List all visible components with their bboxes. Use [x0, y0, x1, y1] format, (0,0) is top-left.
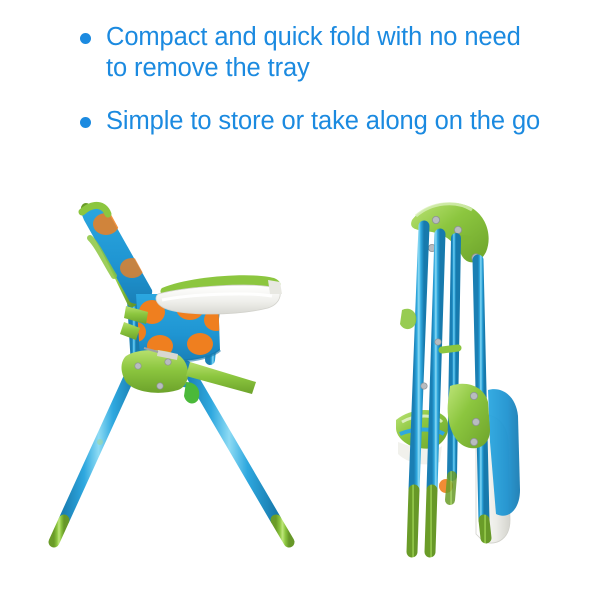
rivet [432, 216, 439, 223]
backrest-fabric [80, 203, 152, 303]
rear-leg [54, 362, 136, 542]
feature-item-text: Compact and quick fold with no need to r… [106, 22, 548, 84]
high-chair-folded-view-figure [380, 190, 570, 590]
high-chair-folded-view-illustration [380, 190, 570, 590]
high-chair-side-view-figure [40, 190, 330, 590]
rivet [470, 438, 477, 445]
rivet [470, 392, 477, 399]
rivet [435, 339, 441, 345]
rivet [135, 363, 141, 369]
feature-item-text: Simple to store or take along on the go [106, 106, 548, 137]
rivet [165, 359, 171, 365]
rivet [472, 418, 479, 425]
fold-hinge-hub [122, 350, 189, 393]
side-release-tab [400, 309, 416, 329]
product-image-row [0, 190, 600, 600]
bullet-dot-icon [80, 33, 91, 44]
front-leg [186, 366, 289, 542]
product-feature-panel: Compact and quick fold with no need to r… [0, 0, 600, 600]
rivet [421, 383, 427, 389]
bullet-dot-icon [80, 117, 91, 128]
tray [156, 275, 282, 314]
rivet [157, 383, 163, 389]
fabric-dot [187, 333, 213, 355]
feature-item: Compact and quick fold with no need to r… [78, 22, 548, 84]
rivet [454, 226, 461, 233]
feature-bullet-list: Compact and quick fold with no need to r… [78, 22, 548, 137]
high-chair-side-view-illustration [40, 190, 330, 590]
feature-item: Simple to store or take along on the go [78, 106, 548, 137]
